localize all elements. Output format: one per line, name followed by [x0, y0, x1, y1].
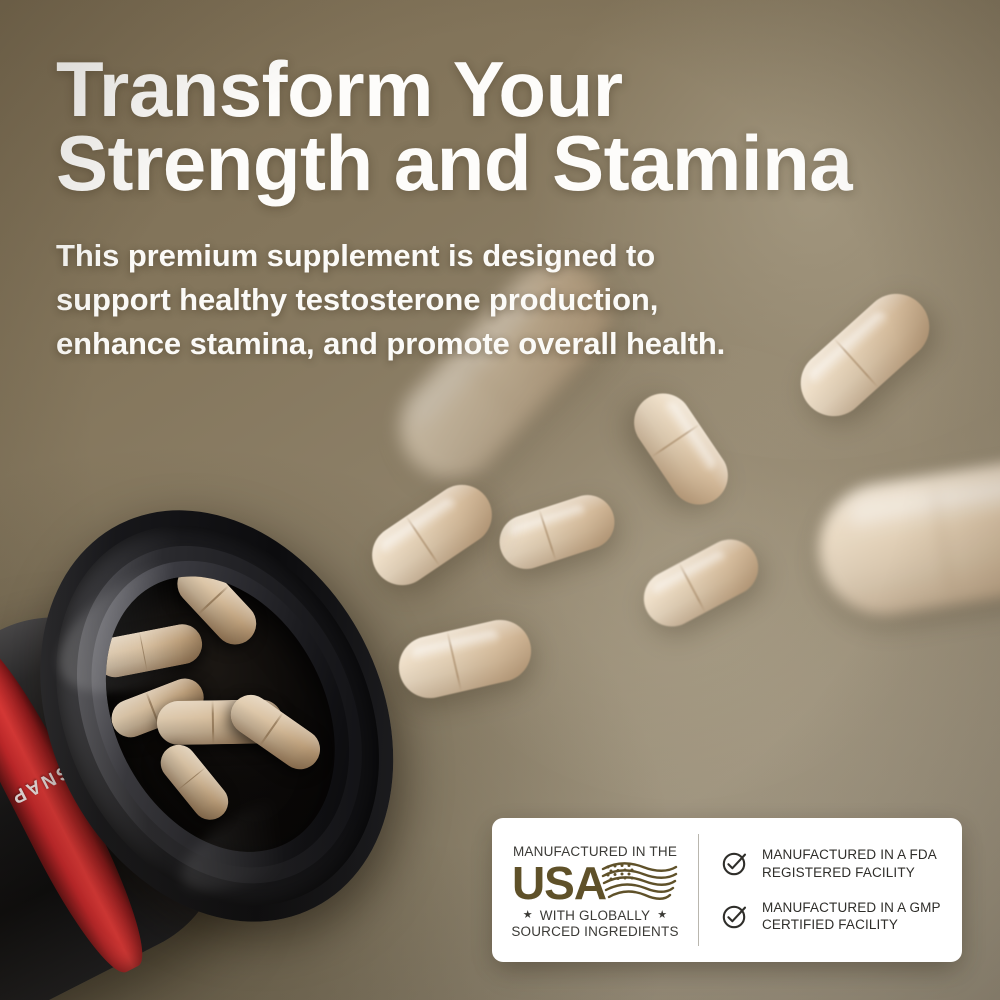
check-circle-icon — [721, 903, 748, 930]
made-in-usa-badge: MANUFACTURED IN THE USA — [492, 818, 698, 962]
hero-copy: Transform Your Strength and Stamina This… — [56, 52, 956, 366]
promo-image-canvas: TESTO Herbs & Vitamins SNAP Transform Yo… — [0, 0, 1000, 1000]
usa-flag-icon — [600, 860, 678, 906]
capsule-floating — [361, 473, 504, 597]
usa-badge-middle-text: WITH GLOBALLY — [540, 908, 650, 923]
usa-badge-middle-line: ★ WITH GLOBALLY ★ — [523, 908, 668, 923]
capsule-in-bottle — [153, 738, 235, 827]
trust-badge-panel: MANUFACTURED IN THE USA — [492, 818, 962, 962]
certification-claims-list: MANUFACTURED IN A FDA REGISTERED FACILIT… — [699, 818, 962, 962]
claim-text: MANUFACTURED IN A GMP CERTIFIED FACILITY — [762, 899, 941, 935]
capsule-floating — [493, 488, 622, 576]
star-icon: ★ — [523, 910, 533, 921]
usa-wordmark: USA — [512, 860, 606, 906]
capsule-floating — [623, 382, 739, 516]
page-title: Transform Your Strength and Stamina — [56, 52, 956, 200]
usa-badge-bottom-line: SOURCED INGREDIENTS — [511, 924, 678, 939]
usa-emblem: USA — [512, 860, 678, 906]
list-item: MANUFACTURED IN A GMP CERTIFIED FACILITY — [721, 899, 948, 935]
star-icon: ★ — [657, 910, 667, 921]
capsule-floating — [393, 614, 538, 705]
capsule-foreground-blurred — [810, 447, 1000, 624]
claim-text: MANUFACTURED IN A FDA REGISTERED FACILIT… — [762, 846, 937, 882]
capsule-floating — [634, 530, 768, 637]
check-circle-icon — [721, 850, 748, 877]
list-item: MANUFACTURED IN A FDA REGISTERED FACILIT… — [721, 846, 948, 882]
hero-subheading: This premium supplement is designed to s… — [56, 234, 956, 366]
